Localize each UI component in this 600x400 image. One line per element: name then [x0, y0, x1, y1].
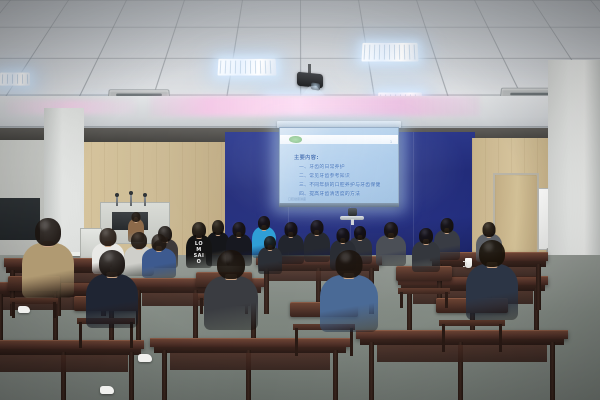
person-p03: [86, 250, 138, 328]
hair-highlight: [339, 229, 344, 234]
hair-highlight: [134, 233, 140, 239]
person-head: [264, 236, 276, 250]
hair-highlight: [133, 213, 136, 216]
conference-room-photo: 1 主要内容: 一、牙齿的日常养护 二、常见牙齿参考知识 三、不同年龄的口腔养护…: [0, 0, 600, 400]
white-shoe-b: [100, 386, 114, 394]
hair-highlight: [214, 221, 218, 226]
projection-screen: 1 主要内容: 一、牙齿的日常养护 二、常见牙齿参考知识 三、不同年龄的口腔养护…: [279, 127, 399, 206]
person-head: [311, 220, 324, 235]
person-head: [192, 222, 206, 238]
microphone-3: [144, 196, 146, 206]
desk-leg: [333, 350, 338, 400]
desk-leg: [129, 352, 134, 400]
desk-leg: [369, 342, 374, 400]
person-head: [233, 222, 246, 237]
hair-highlight: [340, 252, 350, 262]
person-body: [466, 264, 518, 320]
chair-seat: [439, 320, 505, 326]
troffer-center-left: [218, 59, 277, 76]
person-head: [479, 240, 505, 267]
person-p07: [142, 234, 176, 278]
slide-footer: 口腔健康讲座: [288, 197, 306, 201]
person-body: [412, 241, 440, 272]
person-head: [336, 250, 363, 278]
troffer-center-right: [361, 43, 418, 62]
person-p20: [466, 240, 518, 320]
person-body: [258, 247, 282, 274]
person-body: [22, 243, 74, 298]
person-head: [441, 218, 454, 233]
desk-modesty-panel: [170, 353, 330, 370]
person-head: [152, 234, 167, 251]
desk-row0-left: [0, 340, 144, 374]
slide-heading: 主要内容:: [294, 154, 319, 161]
chair-leg: [295, 328, 298, 356]
person-head: [99, 250, 125, 277]
person-p22: [258, 236, 282, 274]
person-body: [86, 274, 138, 328]
person-head: [100, 228, 117, 246]
person-head: [258, 216, 270, 230]
hair-highlight: [222, 252, 232, 262]
desk-leg: [536, 264, 541, 310]
hair-highlight: [40, 220, 49, 230]
person-p17: [320, 250, 378, 332]
cove-light-strip: [150, 96, 480, 116]
hair-highlight: [356, 227, 360, 232]
hair-highlight: [387, 223, 392, 228]
slide-line-1: 一、牙齿的日常养护: [299, 163, 345, 170]
microphone-1: [116, 196, 118, 206]
desk-modesty-panel: [0, 355, 128, 372]
hair-highlight: [443, 219, 448, 224]
person-body: [204, 276, 258, 330]
white-shoe-a: [138, 354, 152, 362]
slide-line-3: 三、不同年龄的口腔养护与牙齿保健: [299, 181, 381, 188]
chair-seat: [398, 288, 450, 294]
projection-screen-bottom-bar: [279, 203, 399, 207]
hair-highlight: [195, 223, 200, 228]
person-p16: [376, 222, 406, 266]
desk-leg: [162, 350, 167, 400]
person-p11: [204, 250, 258, 330]
person-head: [35, 218, 61, 246]
chair-leg: [499, 324, 502, 352]
camera-stem: [351, 219, 354, 225]
person-head: [337, 228, 350, 243]
hair-highlight: [485, 223, 490, 228]
person-head: [384, 222, 398, 238]
person-head: [483, 222, 496, 237]
slide-line-4: 四、提高牙齿清洁度的方法: [299, 190, 360, 197]
chair-leg: [79, 322, 82, 348]
desk-leg: [550, 342, 555, 400]
chair-leg: [350, 328, 353, 356]
hair-highlight: [266, 237, 270, 242]
hair-highlight: [154, 235, 159, 241]
person-head: [212, 220, 224, 235]
chair-leg: [53, 302, 56, 318]
hair-highlight: [104, 252, 113, 261]
hair-highlight: [484, 242, 493, 251]
desk-modesty-panel: [377, 345, 547, 362]
hair-highlight: [235, 223, 240, 228]
person-head: [132, 212, 141, 222]
person-head: [419, 228, 433, 244]
hair-highlight: [103, 229, 109, 235]
leaf-logo-icon: [289, 136, 302, 143]
chair-leg: [442, 324, 445, 352]
person-body: [320, 275, 378, 332]
white-shoe-c: [18, 306, 30, 313]
person-head: [217, 250, 245, 279]
hair-highlight: [260, 217, 264, 222]
person-p02: [22, 218, 74, 298]
chair-seat: [10, 298, 58, 304]
wall-mounted-camera: [337, 208, 367, 225]
chair-leg: [445, 292, 448, 308]
chair-leg: [12, 302, 15, 318]
hair-highlight: [313, 221, 318, 226]
person-body: [142, 248, 176, 278]
person-body: [376, 235, 406, 266]
slide-line-2: 二、常见牙齿参考知识: [299, 172, 350, 179]
hair-highlight: [161, 227, 166, 232]
person-head: [285, 222, 298, 237]
person-p18: [412, 228, 440, 272]
hair-highlight: [422, 229, 427, 234]
troffer-left-edge: [0, 73, 30, 86]
microphone-2: [130, 194, 132, 206]
hair-highlight: [287, 223, 292, 228]
chair-leg: [400, 292, 403, 308]
camera-head: [348, 208, 357, 216]
